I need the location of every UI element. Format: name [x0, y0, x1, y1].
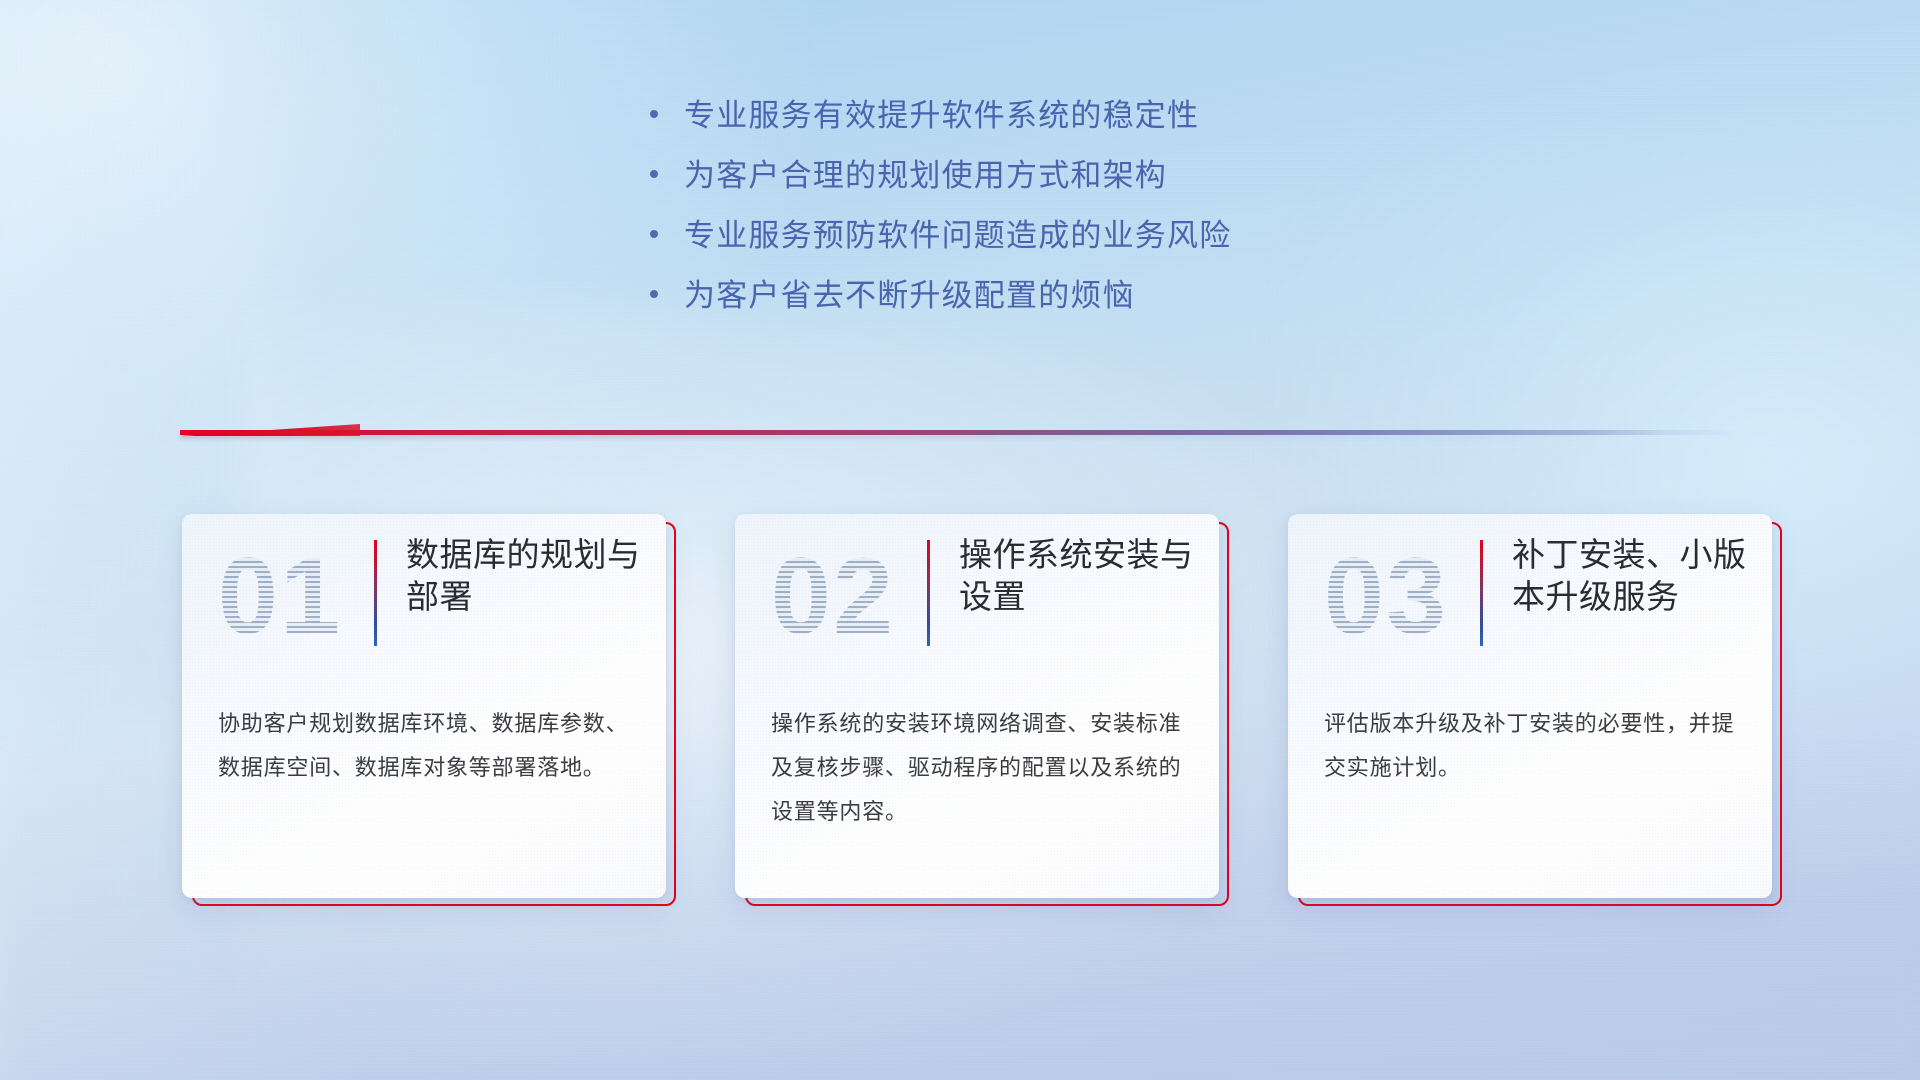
card-body: 01 01 数据库的规划与部署 协助客户规划数据库环境、数据库参数、数据库空间、…: [182, 514, 666, 898]
divider-shadow: [180, 435, 1640, 438]
divider-line: [180, 430, 1740, 435]
card-title: 操作系统安装与设置: [959, 534, 1203, 618]
list-item: 专业服务预防软件问题造成的业务风险: [650, 220, 1430, 252]
list-item: 专业服务有效提升软件系统的稳定性: [650, 100, 1430, 132]
slide-canvas: 专业服务有效提升软件系统的稳定性 为客户合理的规划使用方式和架构 专业服务预防软…: [0, 0, 1920, 1080]
list-item: 为客户合理的规划使用方式和架构: [650, 160, 1430, 192]
service-card-group: 01 01 数据库的规划与部署 协助客户规划数据库环境、数据库参数、数据库空间、…: [182, 514, 1782, 914]
card-accent-bar: [374, 540, 377, 646]
card-title: 补丁安装、小版本升级服务: [1512, 534, 1756, 618]
bullet-text: 专业服务有效提升软件系统的稳定性: [684, 100, 1199, 131]
bullet-dot-icon: [650, 218, 684, 248]
card-header: 02 02 操作系统安装与设置: [735, 534, 1219, 664]
section-divider: [180, 424, 1740, 442]
card-accent-bar: [927, 540, 930, 646]
service-card-01[interactable]: 01 01 数据库的规划与部署 协助客户规划数据库环境、数据库参数、数据库空间、…: [182, 514, 676, 906]
service-card-03[interactable]: 03 03 补丁安装、小版本升级服务 评估版本升级及补丁安装的必要性，并提交实施…: [1288, 514, 1782, 906]
bullet-dot-icon: [650, 98, 684, 128]
card-body: 03 03 补丁安装、小版本升级服务 评估版本升级及补丁安装的必要性，并提交实施…: [1288, 514, 1772, 898]
bullet-text: 专业服务预防软件问题造成的业务风险: [684, 220, 1231, 251]
card-description: 操作系统的安装环境网络调查、安装标准及复核步骤、驱动程序的配置以及系统的设置等内…: [771, 702, 1191, 834]
bullet-text: 为客户省去不断升级配置的烦恼: [684, 280, 1135, 311]
card-header: 01 01 数据库的规划与部署: [182, 534, 666, 664]
bullet-dot-icon: [650, 158, 684, 188]
card-accent-bar: [1480, 540, 1483, 646]
service-card-02[interactable]: 02 02 操作系统安装与设置 操作系统的安装环境网络调查、安装标准及复核步骤、…: [735, 514, 1229, 906]
card-description: 评估版本升级及补丁安装的必要性，并提交实施计划。: [1324, 702, 1744, 790]
card-number: 03: [1306, 536, 1466, 656]
card-number: 02: [753, 536, 913, 656]
list-item: 为客户省去不断升级配置的烦恼: [650, 280, 1430, 312]
bullet-text: 为客户合理的规划使用方式和架构: [684, 160, 1167, 191]
card-title: 数据库的规划与部署: [406, 534, 650, 618]
card-description: 协助客户规划数据库环境、数据库参数、数据库空间、数据库对象等部署落地。: [218, 702, 638, 790]
card-header: 03 03 补丁安装、小版本升级服务: [1288, 534, 1772, 664]
card-body: 02 02 操作系统安装与设置 操作系统的安装环境网络调查、安装标准及复核步骤、…: [735, 514, 1219, 898]
card-number: 01: [200, 536, 360, 656]
bullet-dot-icon: [650, 278, 684, 308]
benefits-bullet-list: 专业服务有效提升软件系统的稳定性 为客户合理的规划使用方式和架构 专业服务预防软…: [650, 100, 1430, 340]
